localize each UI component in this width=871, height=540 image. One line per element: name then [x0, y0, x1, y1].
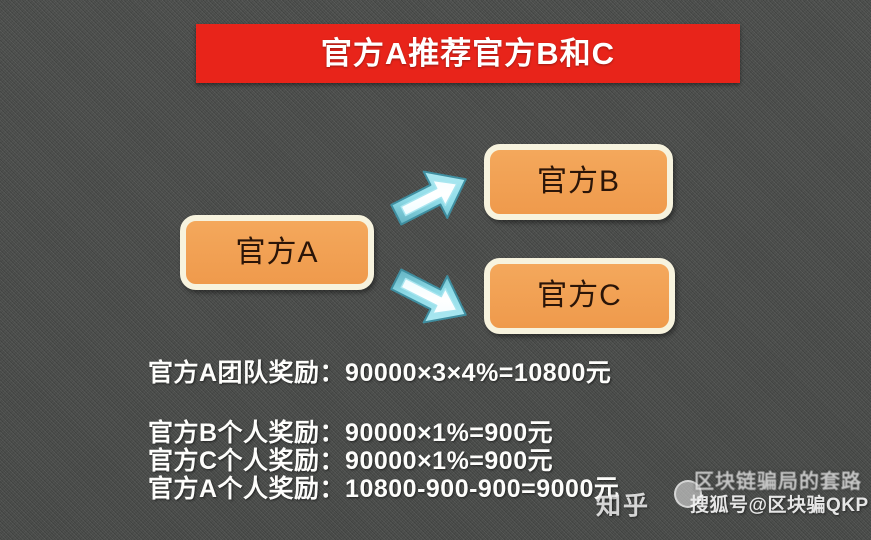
- watermark-zhihu: 知乎: [596, 486, 650, 522]
- title-banner: 官方A推荐官方B和C: [196, 24, 740, 83]
- formula-personal-reward-b: 官方B个人奖励：90000×1%=900元: [148, 419, 619, 447]
- node-official-c: 官方C: [484, 258, 675, 334]
- formula-personal-reward-a: 官方A个人奖励：10800-900-900=9000元: [148, 475, 619, 503]
- node-official-b-label: 官方B: [537, 167, 620, 197]
- watermark-sohu: 区块链骗局的套路 搜狐号@区块骗QKP: [690, 470, 866, 518]
- slide-canvas: 官方A推荐官方B和C 官方A 官方B 官方C: [0, 0, 871, 540]
- node-official-c-label: 官方C: [537, 281, 622, 311]
- formula-team-reward-a: 官方A团队奖励：90000×3×4%=10800元: [148, 359, 619, 387]
- watermark-sohu-title: 区块链骗局的套路: [690, 470, 866, 495]
- arrow-a-to-b-icon: [386, 162, 476, 232]
- watermark-sohu-account: 搜狐号@区块骗QKP: [690, 495, 866, 518]
- formula-personal-reward-c: 官方C个人奖励：90000×1%=900元: [148, 447, 619, 475]
- node-official-a-label: 官方A: [235, 238, 318, 268]
- formula-block: 官方A团队奖励：90000×3×4%=10800元 官方B个人奖励：90000×…: [148, 359, 619, 503]
- page-title: 官方A推荐官方B和C: [321, 38, 615, 69]
- node-official-b: 官方B: [484, 144, 673, 220]
- node-official-a: 官方A: [180, 215, 374, 290]
- arrow-a-to-c-icon: [386, 262, 476, 332]
